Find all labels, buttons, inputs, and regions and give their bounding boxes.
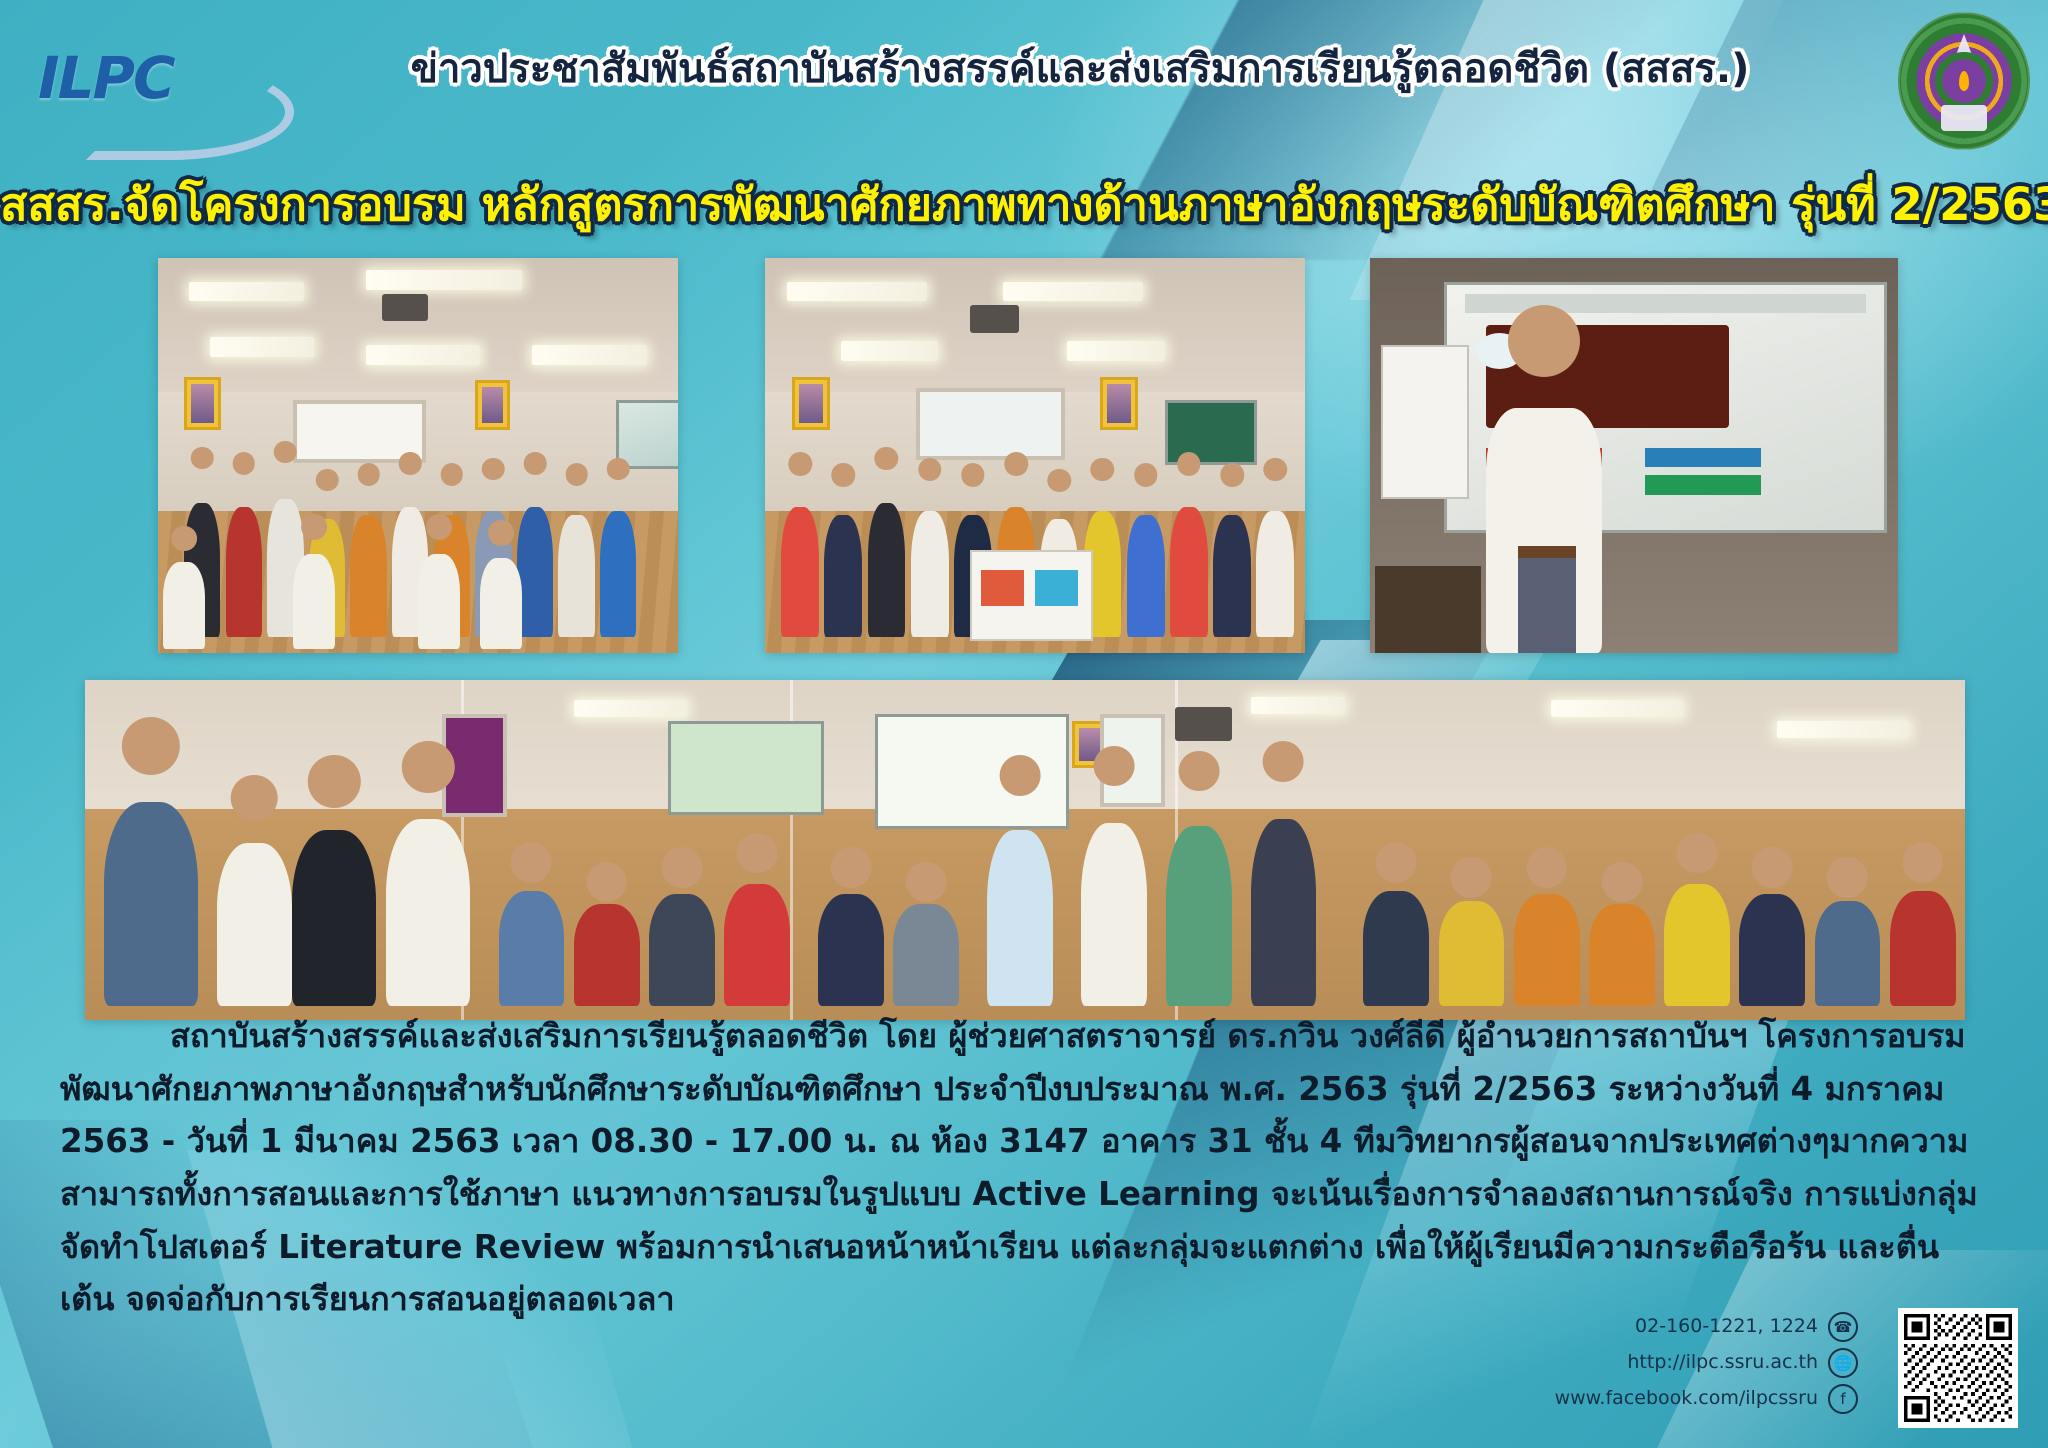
contact-website-row[interactable]: http://ilpc.ssru.ac.th 🌐 xyxy=(1498,1348,1858,1378)
facebook-url[interactable]: www.facebook.com/ilpcssru xyxy=(1555,1385,1818,1413)
photo-scene xyxy=(1370,258,1898,653)
page-header-title: ข่าวประชาสัมพันธ์สถาบันสร้างสรรค์และส่งเ… xyxy=(300,36,1860,100)
phone-number: 02-160-1221, 1224 xyxy=(1635,1313,1818,1341)
photo-scene xyxy=(85,680,1965,1020)
body-paragraph: สถาบันสร้างสรรค์และส่งเสริมการเรียนรู้ตล… xyxy=(60,1010,1990,1326)
university-seal-icon xyxy=(1898,12,2030,150)
seal-base xyxy=(1941,105,1987,131)
photo-group-classroom-1 xyxy=(158,258,678,653)
page-title: สสสร.จัดโครงการอบรม หลักสูตรการพัฒนาศักย… xyxy=(0,168,2048,240)
contact-facebook-row[interactable]: www.facebook.com/ilpcssru f xyxy=(1498,1384,1858,1414)
facebook-icon: f xyxy=(1828,1384,1858,1414)
seal-flame xyxy=(1959,71,1969,91)
photo-scene xyxy=(158,258,678,653)
photo-instructor-presentation xyxy=(1370,258,1898,653)
globe-icon: 🌐 xyxy=(1828,1348,1858,1378)
poster-canvas: ILPC ข่าวประชาสัมพันธ์สถาบันสร้างสรรค์แล… xyxy=(0,0,2048,1448)
qr-code-image xyxy=(1904,1314,2012,1422)
qr-code[interactable] xyxy=(1898,1308,2018,1428)
ilpc-logo: ILPC xyxy=(38,38,268,118)
photo-scene xyxy=(765,258,1305,653)
phone-icon: ☎ xyxy=(1828,1312,1858,1342)
contact-phone-row: 02-160-1221, 1224 ☎ xyxy=(1498,1312,1858,1342)
contact-info: 02-160-1221, 1224 ☎ http://ilpc.ssru.ac.… xyxy=(1498,1312,1858,1420)
photo-group-classroom-2 xyxy=(765,258,1305,653)
website-url[interactable]: http://ilpc.ssru.ac.th xyxy=(1627,1349,1818,1377)
photo-activities-panorama xyxy=(85,680,1965,1020)
